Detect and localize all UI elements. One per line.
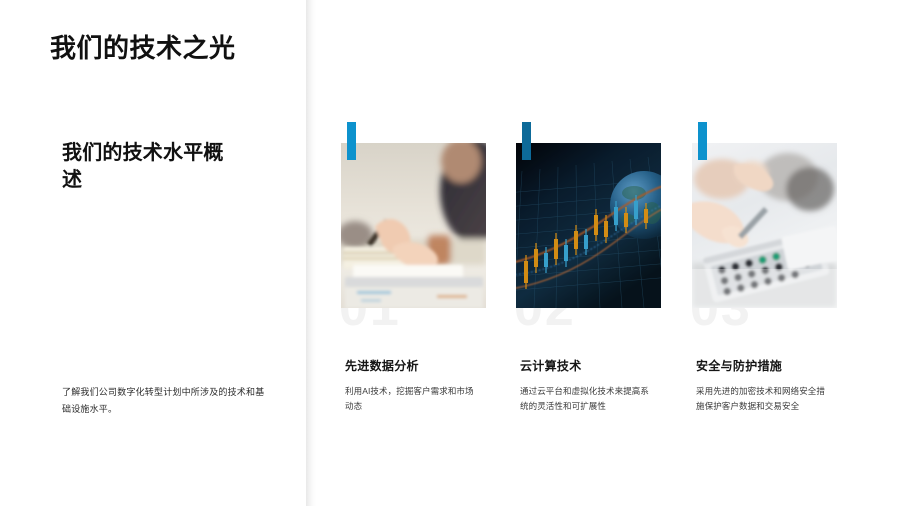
feature-card-3[interactable]: 03 — [692, 0, 837, 506]
left-panel: 我们的技术之光 我们的技术水平概述 了解我们公司数字化转型计划中所涉及的技术和基… — [0, 0, 306, 506]
card-image-2 — [516, 143, 661, 308]
panel-divider — [306, 0, 316, 506]
card-body-1: 利用AI技术，挖掘客户需求和市场动态 — [345, 384, 477, 414]
feature-card-2[interactable]: 02 — [516, 0, 661, 506]
card-title-3: 安全与防护措施 — [696, 357, 846, 374]
section-subtitle: 我们的技术水平概述 — [62, 140, 242, 194]
slide-root: 我们的技术之光 我们的技术水平概述 了解我们公司数字化转型计划中所涉及的技术和基… — [0, 0, 900, 506]
accent-bar-icon — [347, 122, 356, 160]
card-image-1 — [341, 143, 486, 308]
card-image-3 — [692, 143, 837, 308]
card-title-1: 先进数据分析 — [345, 357, 495, 374]
card-title-2: 云计算技术 — [520, 357, 670, 374]
page-title: 我们的技术之光 — [50, 32, 290, 65]
accent-bar-icon — [522, 122, 531, 160]
lead-paragraph: 了解我们公司数字化转型计划中所涉及的技术和基础设施水平。 — [62, 384, 272, 417]
cards-container: 01 — [341, 0, 900, 506]
card-body-3: 采用先进的加密技术和网络安全措施保护客户数据和交易安全 — [696, 384, 828, 414]
feature-card-1[interactable]: 01 — [341, 0, 486, 506]
card-body-2: 通过云平台和虚拟化技术来提高系统的灵活性和可扩展性 — [520, 384, 652, 414]
accent-bar-icon — [698, 122, 707, 160]
